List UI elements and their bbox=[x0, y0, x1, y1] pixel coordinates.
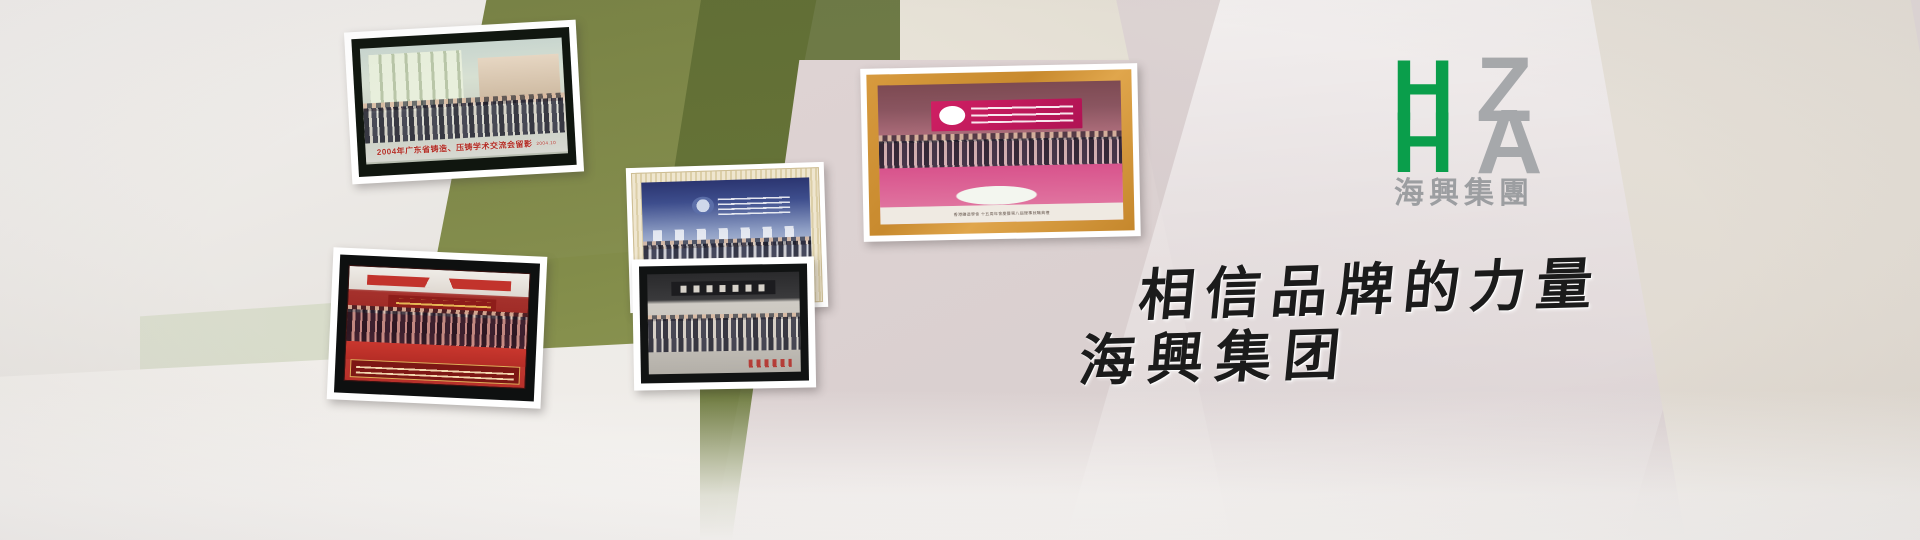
stage-banner-pink bbox=[931, 98, 1082, 132]
photo-image-red-hall bbox=[344, 265, 531, 389]
photo-caption-date: 2004.10 bbox=[536, 140, 556, 146]
brand-banner: 2004年广东省铸造、压铸学术交流会留影 2004.10 香港鑄造學會 十五周年… bbox=[0, 0, 1920, 540]
company-logo: H H Z A 海興集團 bbox=[1392, 48, 1612, 208]
photo-frame-2004-conference: 2004年广东省铸造、压铸学术交流会留影 2004.10 bbox=[344, 20, 584, 185]
photo-image-2004-conference: 2004年广东省铸造、压铸学术交流会留影 2004.10 bbox=[360, 37, 568, 164]
logo-chinese-name: 海興集團 bbox=[1394, 168, 1534, 212]
background-bottom-fade bbox=[0, 390, 1920, 540]
logo-letter-mark: H H Z A bbox=[1392, 48, 1582, 166]
banner-text-lines bbox=[971, 105, 1074, 124]
wooden-frame-border: 香港鑄造學會 十五周年會慶暨第八屆理事就職典禮 bbox=[866, 69, 1134, 236]
photo-caption-storefront bbox=[749, 359, 792, 368]
photo-frame-red-hall bbox=[327, 247, 548, 409]
crowd-figures bbox=[648, 317, 801, 353]
brand-slogan: 相信品牌的力量 海興集团 bbox=[1080, 245, 1840, 395]
photo-frame-mat bbox=[639, 264, 809, 384]
photo-frame-wooden-banquet: 香港鑄造學會 十五周年會慶暨第八屆理事就職典禮 bbox=[860, 63, 1141, 242]
photo-frame-mat: 2004年广东省铸造、压铸学术交流会留影 2004.10 bbox=[351, 27, 576, 177]
photo-image-banquet: 香港鑄造學會 十五周年會慶暨第八屆理事就職典禮 bbox=[878, 80, 1124, 224]
storefront-signage bbox=[672, 280, 776, 296]
banner-emblem-icon bbox=[939, 106, 965, 125]
slogan-line-2: 海興集团 bbox=[1076, 309, 1357, 397]
photo-frame-mat bbox=[334, 255, 540, 402]
photo-image-storefront bbox=[647, 272, 801, 375]
flower-arrangement bbox=[879, 164, 1123, 208]
awards-logo-icon bbox=[692, 196, 714, 215]
awards-title-text bbox=[717, 195, 790, 215]
photo-caption-text: 2004年广东省铸造、压铸学术交流会留影 bbox=[377, 138, 533, 158]
hall-ceiling bbox=[349, 266, 530, 297]
photo-frame-storefront bbox=[632, 256, 816, 390]
